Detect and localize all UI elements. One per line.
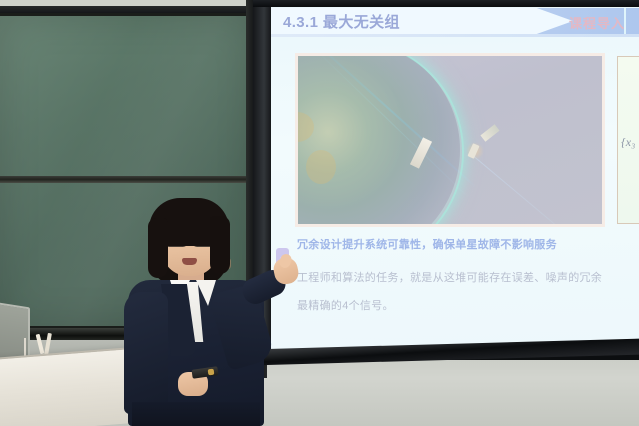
atmosphere-limb — [298, 56, 464, 224]
lecturer — [122, 196, 298, 426]
mouth — [182, 258, 197, 265]
slide-title: 4.3.1 最大无关组 — [283, 11, 400, 32]
classroom-scene: 4.3.1 最大无关组 课程导入 — [0, 0, 639, 426]
hair-side-left — [148, 218, 168, 278]
satellite-earth-photo — [295, 53, 605, 227]
slide-body-line-2: 最精确的4个信号。 — [297, 297, 394, 313]
hair-side-right — [210, 216, 230, 274]
satellite-antenna — [480, 124, 499, 141]
math-line-2: {x₃ — [621, 135, 635, 150]
slide-header-underline — [271, 34, 639, 37]
clicker-button[interactable] — [208, 369, 215, 376]
torso-lower — [132, 402, 260, 426]
blackboard-top-bar — [0, 6, 262, 13]
presentation-slide[interactable]: 4.3.1 最大无关组 课程导入 — [271, 4, 639, 349]
slide-body-line-1: 工程师和算法的任务，就是从这堆可能存在误差、噪声的冗余 — [297, 269, 602, 285]
photo-inner — [298, 56, 602, 224]
math-notation-panel: { {x₃ — [617, 56, 639, 224]
slide-key-point: 冗余设计提升系统可靠性，确保单星故障不影响服务 — [297, 236, 557, 252]
arm-left — [124, 292, 168, 414]
blackboard-divider-rail — [0, 176, 258, 183]
slide-section-badge: 课程导入 — [569, 13, 625, 32]
satellite-downlink-beam — [474, 156, 597, 224]
slide-header-divider — [624, 8, 626, 34]
screen-frame-top — [253, 0, 639, 7]
